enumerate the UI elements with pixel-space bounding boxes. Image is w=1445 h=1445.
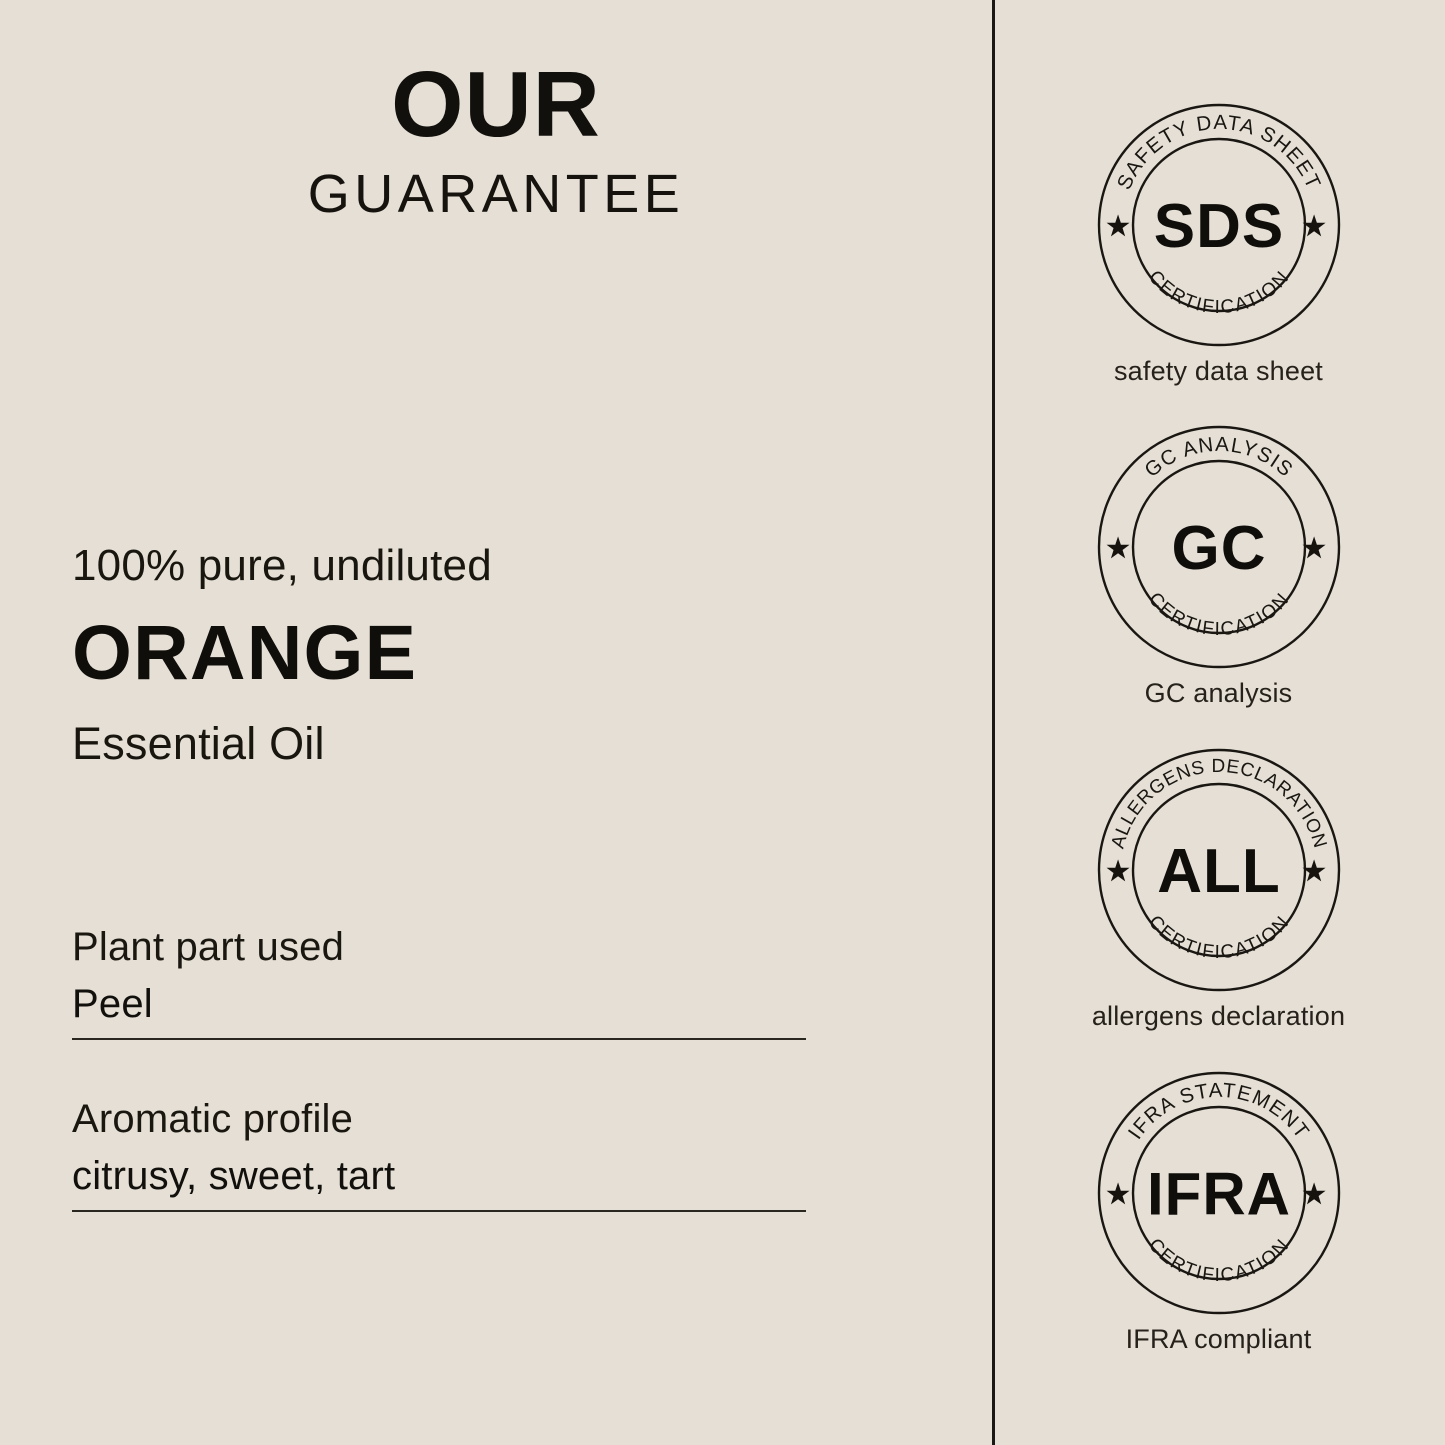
attribute-row-plant-part: Plant part used Peel [72,925,806,1040]
title-line-guarantee: GUARANTEE [0,167,992,221]
badge-caption: safety data sheet [992,357,1445,387]
star-icon [1106,859,1129,881]
certification-badge: SAFETY DATA SHEET CERTIFICATION SDS safe… [992,102,1445,387]
attributes-list: Plant part used Peel Aromatic profile ci… [72,925,806,1212]
right-panel: SAFETY DATA SHEET CERTIFICATION SDS safe… [992,0,1445,1445]
seal-bottom-text: CERTIFICATION [1144,589,1294,641]
seal-bottom-text: CERTIFICATION [1144,1235,1294,1287]
certification-seal-icon: GC ANALYSIS CERTIFICATION GC [1096,424,1342,670]
product-name: ORANGE [72,615,832,692]
certification-seal-icon: IFRA STATEMENT CERTIFICATION IFRA [1096,1070,1342,1316]
attribute-value: citrusy, sweet, tart [72,1154,806,1198]
left-panel: OUR GUARANTEE 100% pure, undiluted ORANG… [0,0,992,1445]
product-block: 100% pure, undiluted ORANGE Essential Oi… [72,543,832,767]
seal-top-text: IFRA STATEMENT [1123,1079,1313,1144]
badge-caption: IFRA compliant [992,1325,1445,1355]
seal-acronym: IFRA [1147,1160,1291,1227]
attribute-label: Aromatic profile [72,1097,806,1141]
svg-text:IFRA STATEMENT: IFRA STATEMENT [1123,1079,1313,1144]
seal-acronym: GC [1171,514,1266,583]
seal-bottom-text: CERTIFICATION [1144,267,1294,319]
attribute-label: Plant part used [72,925,806,969]
certification-seal-icon: ALLERGENS DECLARATION CERTIFICATION ALL [1096,747,1342,993]
svg-text:CERTIFICATION: CERTIFICATION [1144,589,1294,641]
svg-text:CERTIFICATION: CERTIFICATION [1144,267,1294,319]
attribute-value: Peel [72,982,806,1026]
svg-text:CERTIFICATION: CERTIFICATION [1144,912,1294,964]
certification-badge: IFRA STATEMENT CERTIFICATION IFRA IFRA c… [992,1070,1445,1355]
page-title: OUR GUARANTEE [0,58,992,221]
guarantee-infographic: OUR GUARANTEE 100% pure, undiluted ORANG… [0,0,1445,1445]
seal-acronym: SDS [1153,192,1283,261]
svg-text:CERTIFICATION: CERTIFICATION [1144,1235,1294,1287]
title-line-our: OUR [0,58,992,151]
product-tagline: 100% pure, undiluted [72,543,832,589]
certification-seal-icon: SAFETY DATA SHEET CERTIFICATION SDS [1096,102,1342,348]
certification-badge: GC ANALYSIS CERTIFICATION GC GC analysis [992,424,1445,709]
seal-acronym: ALL [1157,837,1281,906]
star-icon [1106,536,1129,558]
seal-bottom-text: CERTIFICATION [1144,912,1294,964]
star-icon [1106,214,1129,236]
certification-badge: ALLERGENS DECLARATION CERTIFICATION ALL … [992,747,1445,1032]
product-type: Essential Oil [72,720,832,767]
badge-caption: allergens declaration [992,1002,1445,1032]
attribute-row-aromatic-profile: Aromatic profile citrusy, sweet, tart [72,1097,806,1212]
badge-caption: GC analysis [992,679,1445,709]
star-icon [1106,1182,1129,1204]
